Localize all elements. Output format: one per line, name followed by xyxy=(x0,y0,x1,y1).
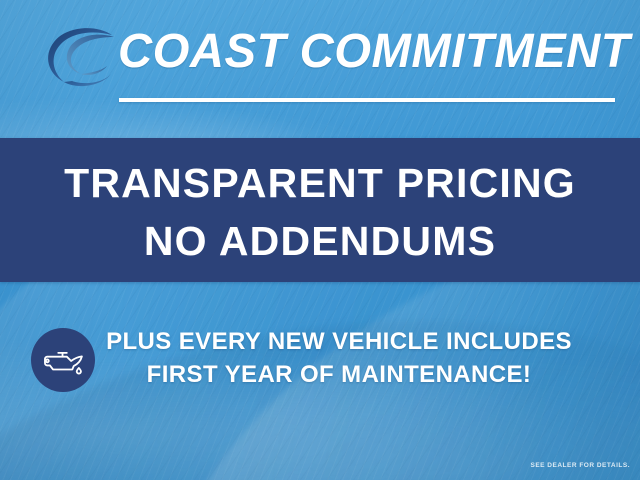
coast-commitment-banner: COAST COMMITMENT TRANSPARENT PRICING NO … xyxy=(0,0,640,480)
coast-wave-logo-icon xyxy=(36,22,118,92)
disclaimer-text: SEE DEALER FOR DETAILS. xyxy=(531,462,631,469)
transparent-pricing-headline: TRANSPARENT PRICING xyxy=(0,160,640,207)
page-title: COAST COMMITMENT xyxy=(118,24,611,80)
maintenance-promo-text: PLUS EVERY NEW VEHICLE INCLUDES FIRST YE… xyxy=(104,325,574,391)
header-divider xyxy=(119,98,615,102)
maintenance-promo-row: PLUS EVERY NEW VEHICLE INCLUDES FIRST YE… xyxy=(0,325,640,405)
no-addendums-headline: NO ADDENDUMS xyxy=(0,218,640,265)
banner-header: COAST COMMITMENT xyxy=(0,0,640,138)
promo-line-1: PLUS EVERY NEW VEHICLE INCLUDES xyxy=(104,325,574,358)
oil-can-badge xyxy=(31,328,95,392)
oil-can-icon xyxy=(42,344,84,377)
pricing-message-band: TRANSPARENT PRICING NO ADDENDUMS xyxy=(0,138,640,282)
promo-line-2: FIRST YEAR OF MAINTENANCE! xyxy=(104,358,574,391)
